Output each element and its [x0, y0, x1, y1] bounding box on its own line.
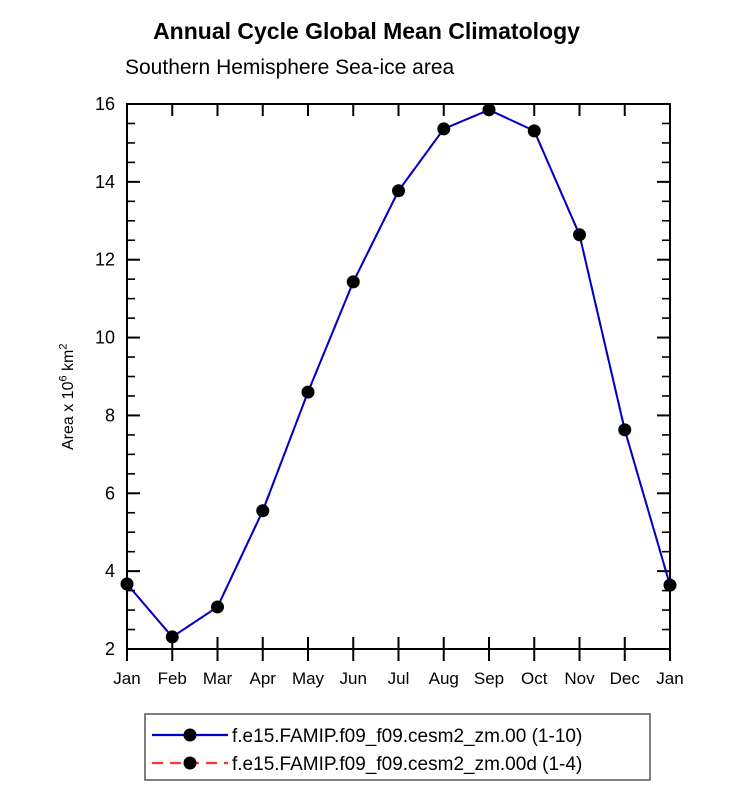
data-point-marker[interactable]: [483, 103, 496, 116]
y-tick-label: 12: [95, 250, 115, 270]
x-tick-label: Dec: [610, 669, 641, 688]
x-tick-label: Jan: [656, 669, 683, 688]
data-point-marker[interactable]: [528, 124, 541, 137]
x-tick-label: Aug: [429, 669, 459, 688]
data-point-marker[interactable]: [211, 600, 224, 613]
x-tick-label: Mar: [203, 669, 233, 688]
legend[interactable]: f.e15.FAMIP.f09_f09.cesm2_zm.00 (1-10)f.…: [145, 714, 650, 780]
y-tick-label: 16: [95, 94, 115, 114]
chart-container: Annual Cycle Global Mean Climatology Sou…: [0, 0, 733, 790]
y-tick-label: 14: [95, 172, 115, 192]
x-tick-label: Jan: [113, 669, 140, 688]
x-tick-label: Jul: [388, 669, 410, 688]
y-tick-label: 8: [105, 405, 115, 425]
legend-marker: [184, 729, 197, 742]
x-tick-label: Oct: [521, 669, 548, 688]
data-point-marker[interactable]: [302, 386, 315, 399]
x-tick-label: Jun: [340, 669, 367, 688]
data-point-marker[interactable]: [664, 579, 677, 592]
y-tick-label: 6: [105, 483, 115, 503]
legend-label[interactable]: f.e15.FAMIP.f09_f09.cesm2_zm.00 (1-10): [232, 726, 582, 747]
y-tick-label: 10: [95, 328, 115, 348]
y-tick-label: 2: [105, 639, 115, 659]
data-point-marker[interactable]: [347, 275, 360, 288]
x-tick-label: Sep: [474, 669, 504, 688]
data-point-marker[interactable]: [437, 122, 450, 135]
x-tick-label: May: [292, 669, 325, 688]
data-point-marker[interactable]: [166, 630, 179, 643]
x-tick-label: Apr: [250, 669, 277, 688]
y-axis-ticks: 246810121416: [95, 94, 670, 659]
x-tick-label: Feb: [158, 669, 187, 688]
data-point-marker[interactable]: [256, 504, 269, 517]
legend-marker: [184, 757, 197, 770]
y-tick-label: 4: [105, 561, 115, 581]
plot-svg: 246810121416 JanFebMarAprMayJunJulAugSep…: [0, 0, 733, 790]
data-point-marker[interactable]: [618, 423, 631, 436]
data-point-marker[interactable]: [392, 184, 405, 197]
x-tick-label: Nov: [564, 669, 595, 688]
legend-label[interactable]: f.e15.FAMIP.f09_f09.cesm2_zm.00d (1-4): [232, 754, 582, 775]
data-series-layer: [121, 103, 677, 643]
data-point-marker[interactable]: [573, 228, 586, 241]
data-point-marker[interactable]: [121, 577, 134, 590]
